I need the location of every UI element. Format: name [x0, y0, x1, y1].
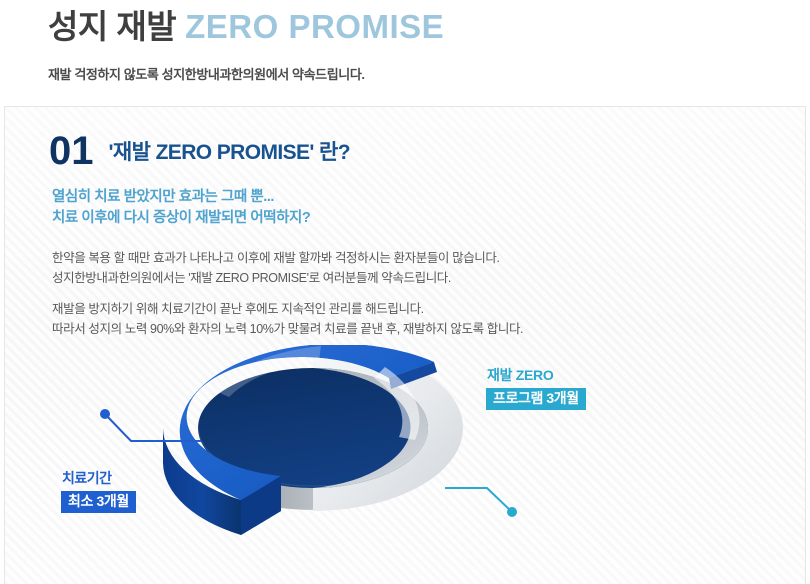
callout-right-badge: 프로그램 3개월 [486, 388, 586, 410]
chart-area: 치료기간 최소 3개월 [5, 343, 806, 584]
donut-chart-svg [153, 345, 473, 535]
page-title-korean: 성지 재발 [48, 8, 176, 45]
callout-treatment-period: 치료기간 최소 3개월 [61, 468, 136, 513]
body-paragraph-2: 재발을 방지하기 위해 치료기간이 끝난 후에도 지속적인 관리를 해드립니다.… [52, 299, 523, 339]
callout-zero-program: 재발 ZERO 프로그램 3개월 [486, 365, 586, 410]
callout-left-caption: 치료기간 [61, 468, 136, 488]
section-number: 01 [49, 129, 94, 174]
donut-chart [153, 345, 473, 535]
page-subtitle: 재발 걱정하지 않도록 성지한방내과한의원에서 약속드립니다. [48, 64, 365, 83]
lead-line-2: 치료 이후에 다시 증상이 재발되면 어떡하지? [52, 210, 310, 226]
content-panel: 01'재발 ZERO PROMISE' 란? 열심히 치료 받았지만 효과는 그… [4, 106, 806, 584]
section-title: '재발 ZERO PROMISE' 란? [109, 136, 350, 166]
page-root: 성지 재발ZERO PROMISE 재발 걱정하지 않도록 성지한방내과한의원에… [0, 0, 810, 584]
body2-line-2: 따라서 성지의 노력 90%와 환자의 노력 10%가 맞물려 치료를 끝낸 후… [52, 322, 523, 336]
lead-paragraph: 열심히 치료 받았지만 효과는 그때 뿐... 치료 이후에 다시 증상이 재발… [52, 187, 310, 229]
body-paragraph-1: 한약을 복용 할 때만 효과가 나타나고 이후에 재발 할까봐 걱정하시는 환자… [52, 248, 500, 288]
body1-line-2: 성지한방내과한의원에서는 '재발 ZERO PROMISE'로 여러분들께 약속… [52, 271, 451, 285]
body1-line-1: 한약을 복용 할 때만 효과가 나타나고 이후에 재발 할까봐 걱정하시는 환자… [52, 251, 500, 265]
lead-line-1: 열심히 치료 받았지만 효과는 그때 뿐... [52, 189, 274, 205]
callout-right-caption: 재발 ZERO [486, 365, 586, 385]
section-heading: 01'재발 ZERO PROMISE' 란? [49, 129, 350, 174]
content-panel-inner: 01'재발 ZERO PROMISE' 란? 열심히 치료 받았지만 효과는 그… [5, 107, 805, 584]
callout-left-badge: 최소 3개월 [61, 491, 136, 513]
page-title-english: ZERO PROMISE [185, 8, 444, 45]
body2-line-1: 재발을 방지하기 위해 치료기간이 끝난 후에도 지속적인 관리를 해드립니다. [52, 302, 424, 316]
page-title: 성지 재발ZERO PROMISE [48, 10, 444, 43]
page-header: 성지 재발ZERO PROMISE 재발 걱정하지 않도록 성지한방내과한의원에… [0, 0, 810, 106]
